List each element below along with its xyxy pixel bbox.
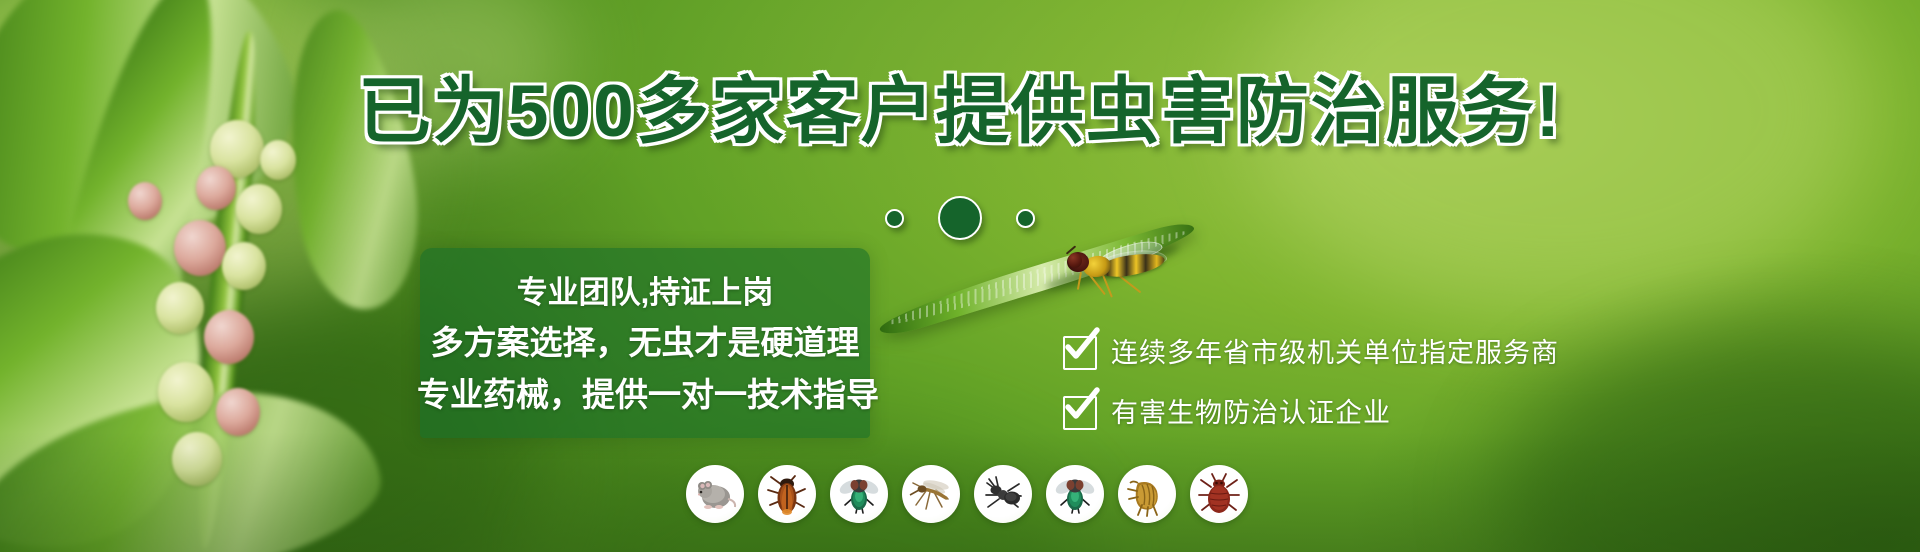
checklist-item-label: 连续多年省市级机关单位指定服务商: [1111, 337, 1559, 369]
check-square-icon: [1063, 336, 1097, 370]
flea-icon[interactable]: [1118, 465, 1176, 523]
flower-bud: [172, 432, 222, 486]
dot-small-icon: [1016, 209, 1035, 228]
checklist-item-label: 有害生物防治认证企业: [1111, 397, 1391, 429]
selling-point-line-2: 多方案选择，无虫才是硬道理: [431, 321, 860, 365]
dot-large-icon: [938, 196, 982, 240]
banner-headline: 已为500多家客户提供虫害防治服务!: [0, 70, 1920, 154]
credentials-checklist: 连续多年省市级机关单位指定服务商 有害生物防治认证企业: [1063, 336, 1559, 430]
fly-icon-2[interactable]: [1046, 465, 1104, 523]
hoverfly-on-leaf: [1055, 243, 1175, 307]
selling-point-line-1: 专业团队,持证上岗: [517, 273, 774, 313]
insect-leg: [1077, 272, 1082, 290]
selling-point-line-3: 专业药械，提供一对一技术指导: [417, 373, 879, 417]
fly-icon[interactable]: [830, 465, 888, 523]
checklist-item: 有害生物防治认证企业: [1063, 396, 1559, 430]
pest-control-hero-banner: 已为500多家客户提供虫害防治服务! 专业团队,持证上岗 多方案选择，无虫才是硬…: [0, 0, 1920, 552]
flower-bud: [204, 310, 254, 364]
mosquito-icon[interactable]: [902, 465, 960, 523]
flower-bud: [216, 388, 260, 436]
decor-dots: [0, 196, 1920, 240]
flower-bud: [156, 282, 204, 334]
flower-bud: [158, 362, 214, 422]
pest-icon-strip: [686, 465, 1248, 523]
flower-bud: [222, 242, 266, 290]
bedbug-icon[interactable]: [1190, 465, 1248, 523]
mouse-icon[interactable]: [686, 465, 744, 523]
checklist-item: 连续多年省市级机关单位指定服务商: [1063, 336, 1559, 370]
ant-icon[interactable]: [974, 465, 1032, 523]
cockroach-icon[interactable]: [758, 465, 816, 523]
dot-small-icon: [885, 209, 904, 228]
insect-eye: [1068, 253, 1082, 268]
check-square-icon: [1063, 396, 1097, 430]
selling-points-text: 专业团队,持证上岗 多方案选择，无虫才是硬道理 专业药械，提供一对一技术指导: [420, 252, 870, 438]
